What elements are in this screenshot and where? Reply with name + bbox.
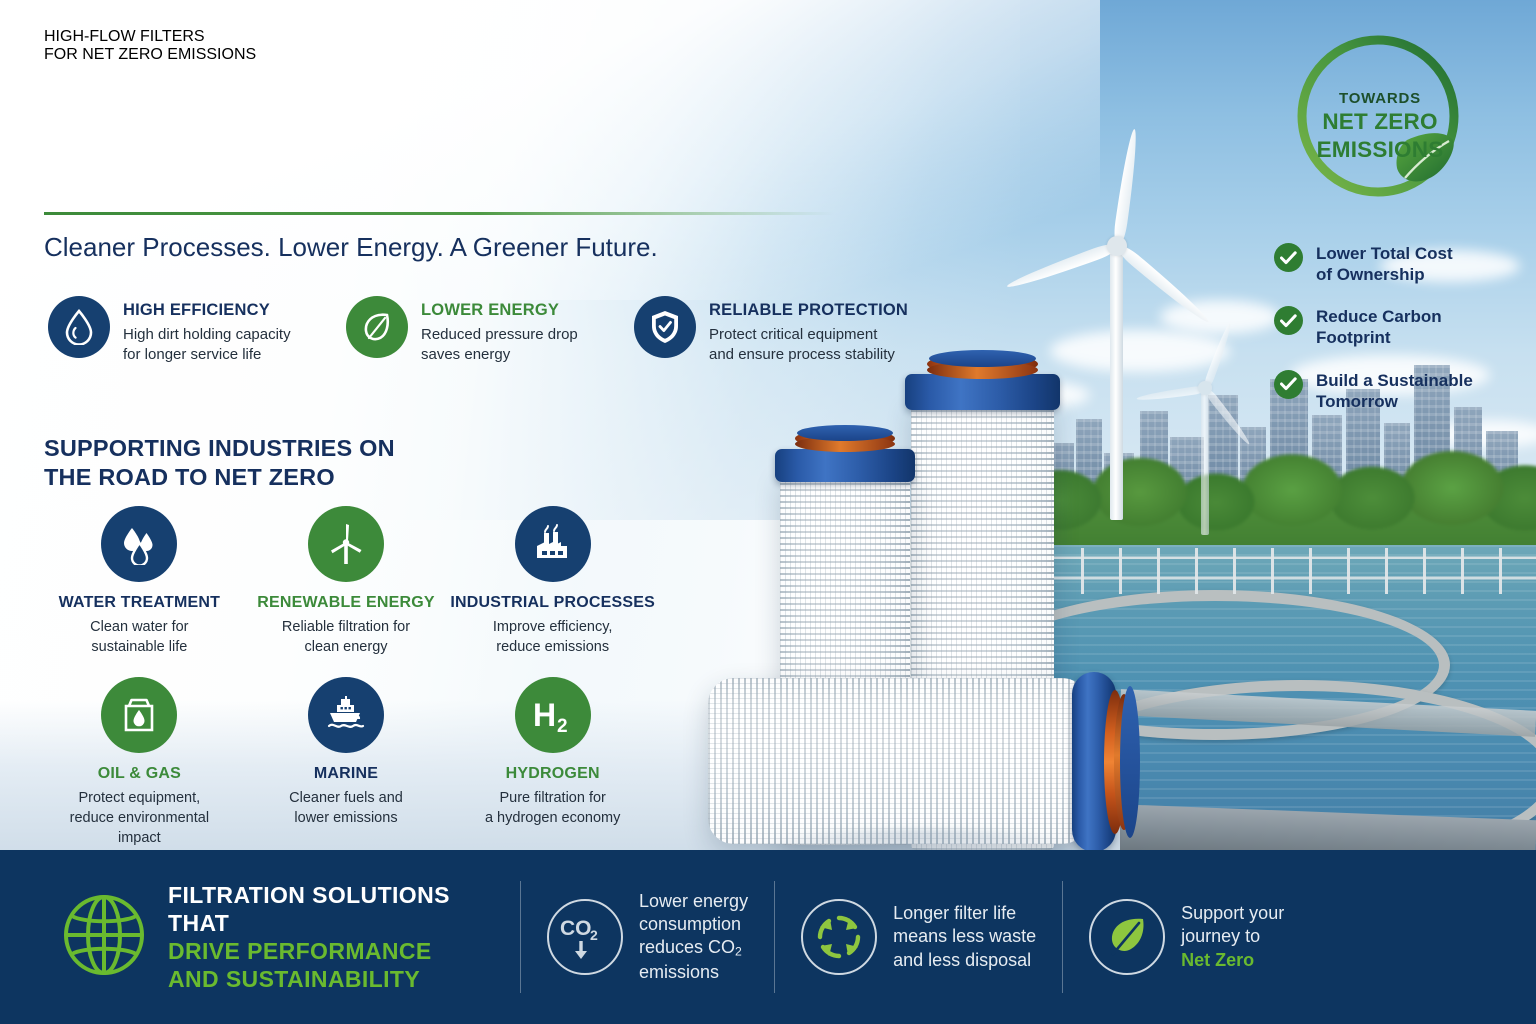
check-circle-icon — [1274, 243, 1303, 272]
industry-title: OIL & GAS — [36, 765, 243, 783]
industry-desc-line: lower emissions — [243, 808, 450, 828]
svg-text:CO: CO — [560, 917, 592, 940]
industry-desc-line: Reliable filtration for — [243, 617, 450, 637]
badge-line-1: TOWARDS — [1285, 90, 1475, 107]
footer-item-line-3: and less disposal — [893, 949, 1036, 972]
industry-desc-line: clean energy — [243, 637, 450, 657]
feature-desc-line: and ensure process stability — [709, 345, 908, 365]
industry-title: INDUSTRIAL PROCESSES — [449, 594, 656, 612]
feature-desc-line: Reduced pressure drop — [421, 325, 578, 345]
industry-item-hydrogen: H 2 HYDROGEN Pure filtration for a hydro… — [449, 677, 656, 848]
svg-text:2: 2 — [590, 927, 598, 943]
industry-title: WATER TREATMENT — [36, 594, 243, 612]
svg-text:2: 2 — [557, 716, 568, 736]
feature-desc-line: High dirt holding capacity — [123, 325, 291, 345]
industry-item-renewable-energy: RENEWABLE ENERGY Reliable filtration for… — [243, 506, 450, 657]
industry-title: HYDROGEN — [449, 765, 656, 783]
feature-desc-line: saves energy — [421, 345, 578, 365]
title-line-2: FOR NET ZERO EMISSIONS — [44, 46, 964, 64]
badge-line-2: NET ZERO — [1285, 110, 1475, 135]
shield-check-icon — [634, 296, 696, 358]
footer-bar: FILTRATION SOLUTIONS THAT DRIVE PERFORMA… — [0, 850, 1536, 1024]
industries-grid: WATER TREATMENT Clean water for sustaina… — [36, 506, 656, 848]
industries-heading-line-1: SUPPORTING INDUSTRIES ON — [44, 434, 395, 463]
factory-icon — [515, 506, 591, 582]
industry-title: MARINE — [243, 765, 450, 783]
footer-item-line-3: Net Zero — [1181, 949, 1284, 972]
footer-item-line-4: emissions — [639, 961, 748, 984]
svg-text:H: H — [533, 697, 556, 733]
footer-brand-line-1: FILTRATION SOLUTIONS THAT — [168, 881, 498, 937]
hydrogen-h2-icon: H 2 — [515, 677, 591, 753]
feature-list: HIGH EFFICIENCY High dirt holding capaci… — [48, 296, 934, 366]
industry-item-industrial-processes: INDUSTRIAL PROCESSES Improve efficiency,… — [449, 506, 656, 657]
leaf-icon — [346, 296, 408, 358]
industry-desc-line: impact — [36, 828, 243, 848]
industry-desc-line: reduce environmental — [36, 808, 243, 828]
water-droplets-icon — [101, 506, 177, 582]
infographic-poster: HIGH-FLOW FILTERS FOR NET ZERO EMISSIONS… — [0, 0, 1536, 1024]
footer-item-line-2: consumption — [639, 913, 748, 936]
globe-icon — [58, 889, 150, 986]
industry-item-oil-and-gas: OIL & GAS Protect equipment, reduce envi… — [36, 677, 243, 848]
benefit-line-2: Footprint — [1316, 328, 1442, 349]
industry-desc-line: Protect equipment, — [36, 788, 243, 808]
footer-item-net-zero: Support your journey to Net Zero — [1063, 899, 1310, 975]
badge-line-3: EMISSIONS — [1285, 138, 1475, 163]
industry-desc-line: Improve efficiency, — [449, 617, 656, 637]
feature-title: LOWER ENERGY — [421, 301, 578, 320]
footer-item-line-1: Longer filter life — [893, 902, 1036, 925]
subtitle: Cleaner Processes. Lower Energy. A Green… — [44, 232, 658, 263]
industries-heading-line-2: THE ROAD TO NET ZERO — [44, 463, 395, 492]
footer-item-line-1: Lower energy — [639, 890, 748, 913]
industry-desc-line: Pure filtration for — [449, 788, 656, 808]
feature-item: HIGH EFFICIENCY High dirt holding capaci… — [48, 296, 326, 366]
title-divider — [44, 212, 834, 215]
footer-item-line-2: means less waste — [893, 925, 1036, 948]
industry-title: RENEWABLE ENERGY — [243, 594, 450, 612]
industry-desc-line: a hydrogen economy — [449, 808, 656, 828]
wind-turbine-icon — [308, 506, 384, 582]
industry-desc-line: reduce emissions — [449, 637, 656, 657]
leaf-icon — [1089, 899, 1165, 975]
water-drop-icon — [48, 296, 110, 358]
feature-item: LOWER ENERGY Reduced pressure drop saves… — [346, 296, 614, 366]
benefit-line-1: Lower Total Cost — [1316, 244, 1453, 265]
check-circle-icon — [1274, 306, 1303, 335]
co2-down-arrow-icon: CO 2 — [547, 899, 623, 975]
feature-title: HIGH EFFICIENCY — [123, 301, 291, 320]
title-line-1: HIGH-FLOW FILTERS — [44, 28, 964, 46]
benefit-line-2: Tomorrow — [1316, 392, 1473, 413]
footer-item-line-1: Support your — [1181, 902, 1284, 925]
industries-row: OIL & GAS Protect equipment, reduce envi… — [36, 677, 656, 848]
footer-item-line-2: journey to — [1181, 925, 1284, 948]
benefit-item: Reduce Carbon Footprint — [1274, 306, 1524, 348]
benefit-line-2: of Ownership — [1316, 265, 1453, 286]
benefit-line-1: Build a Sustainable — [1316, 371, 1473, 392]
recycle-icon — [801, 899, 877, 975]
feature-title: RELIABLE PROTECTION — [709, 301, 908, 320]
feature-desc-line: for longer service life — [123, 345, 291, 365]
benefit-item: Lower Total Cost of Ownership — [1274, 243, 1524, 285]
industries-heading: SUPPORTING INDUSTRIES ON THE ROAD TO NET… — [44, 434, 395, 492]
net-zero-badge: TOWARDS NET ZERO EMISSIONS — [1285, 28, 1475, 208]
footer-brand-line-2: DRIVE PERFORMANCE — [168, 937, 498, 965]
footer-brand-line-3: AND SUSTAINABILITY — [168, 965, 498, 993]
feature-desc-line: Protect critical equipment — [709, 325, 908, 345]
industry-desc-line: sustainable life — [36, 637, 243, 657]
feature-item: RELIABLE PROTECTION Protect critical equ… — [634, 296, 934, 366]
check-circle-icon — [1274, 370, 1303, 399]
industry-desc-line: Cleaner fuels and — [243, 788, 450, 808]
footer-brand: FILTRATION SOLUTIONS THAT DRIVE PERFORMA… — [0, 881, 520, 993]
industry-item-water-treatment: WATER TREATMENT Clean water for sustaina… — [36, 506, 243, 657]
footer-item-line-3: reduces CO2 — [639, 936, 748, 961]
footer-item-co2: CO 2 Lower energy consumption reduces CO… — [521, 890, 774, 985]
industries-row: WATER TREATMENT Clean water for sustaina… — [36, 506, 656, 657]
oil-can-icon — [101, 677, 177, 753]
benefit-line-1: Reduce Carbon — [1316, 307, 1442, 328]
ship-icon — [308, 677, 384, 753]
page-title: HIGH-FLOW FILTERS FOR NET ZERO EMISSIONS — [44, 28, 964, 64]
benefits-list: Lower Total Cost of Ownership Reduce Car… — [1274, 243, 1524, 433]
industry-item-marine: MARINE Cleaner fuels and lower emissions — [243, 677, 450, 848]
industry-desc-line: Clean water for — [36, 617, 243, 637]
benefit-item: Build a Sustainable Tomorrow — [1274, 370, 1524, 412]
footer-item-recycle: Longer filter life means less waste and … — [775, 899, 1062, 975]
